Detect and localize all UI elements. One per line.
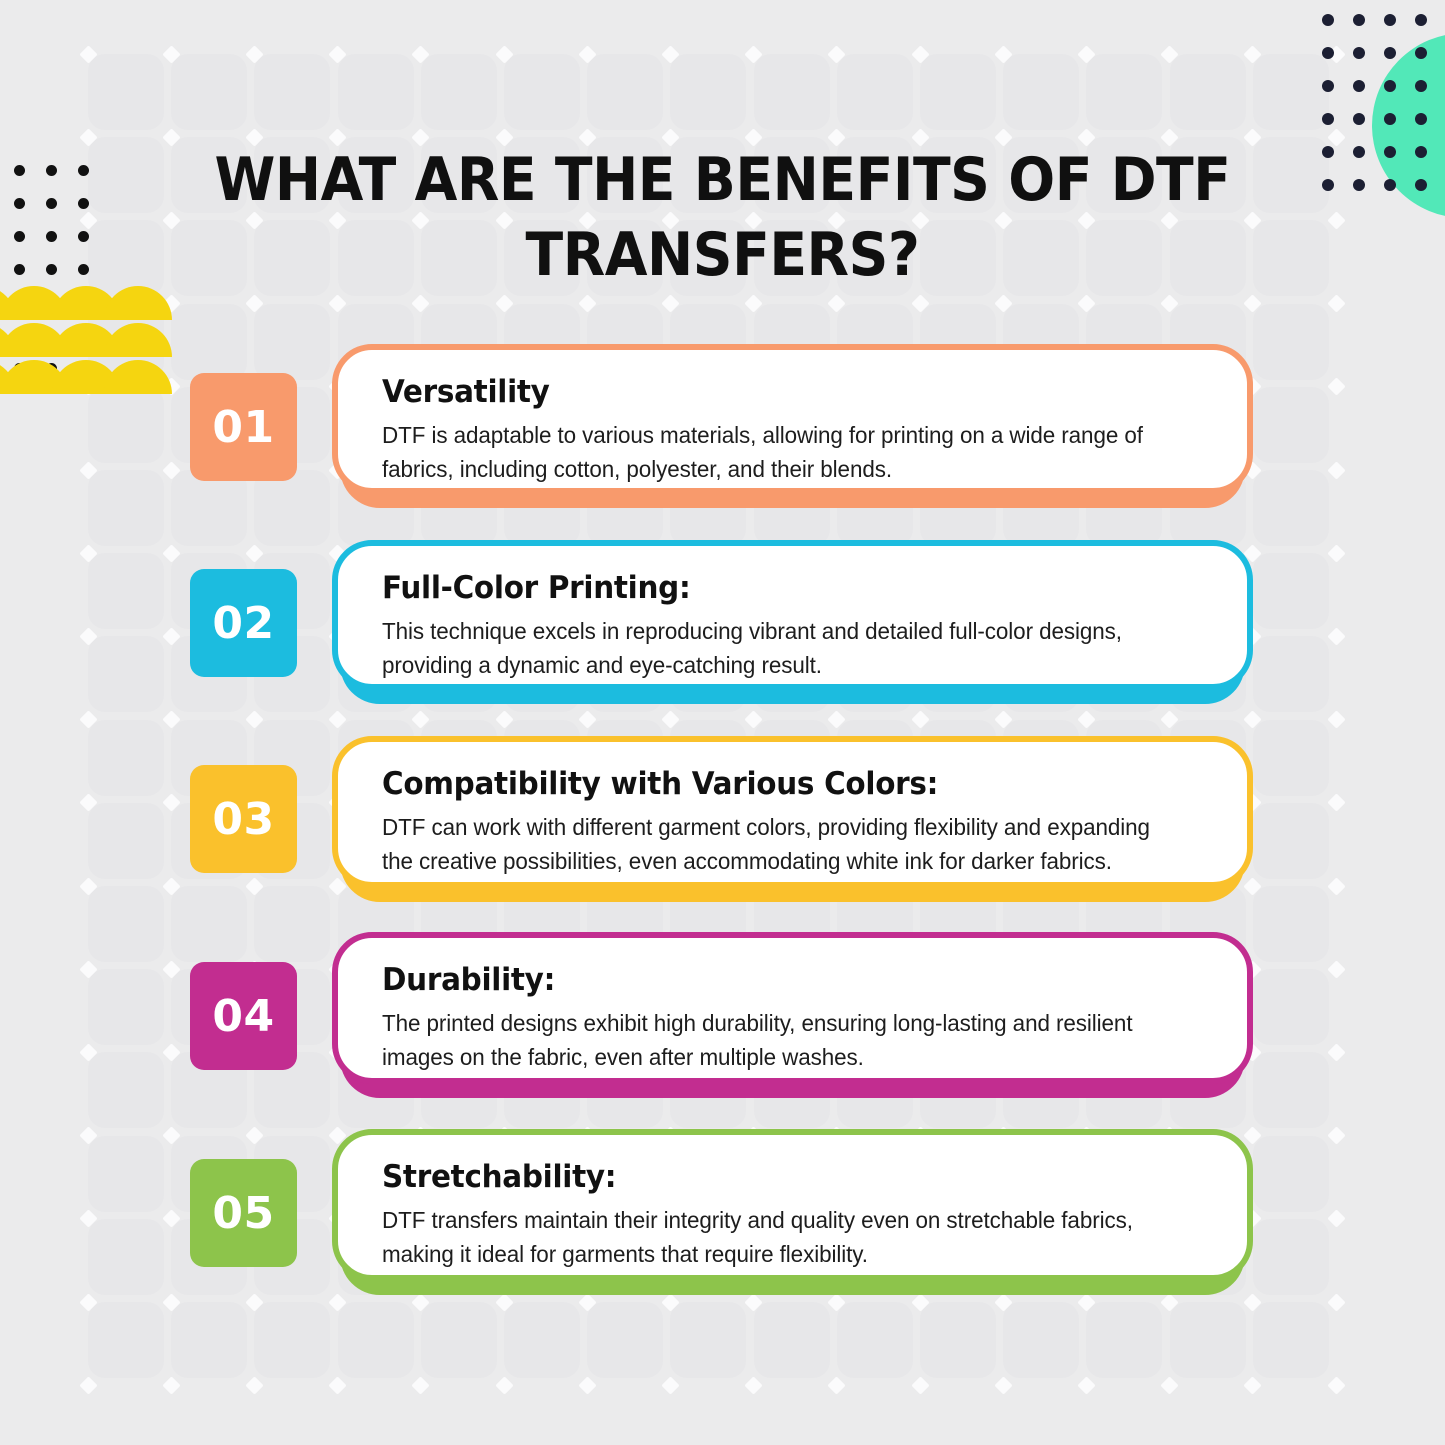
benefit-card[interactable]: Stretchability:DTF transfers maintain th… (332, 1129, 1253, 1281)
benefit-number-badge: 03 (190, 765, 297, 873)
grid-tile (88, 470, 164, 546)
grid-tile (254, 1302, 330, 1378)
decorative-dot (1322, 146, 1334, 158)
benefit-description: DTF is adaptable to various materials, a… (382, 418, 1166, 486)
grid-tile (338, 1302, 414, 1378)
grid-tile (1253, 304, 1329, 380)
grid-tile (670, 54, 746, 130)
decorative-dot (1353, 179, 1365, 191)
grid-tile (504, 54, 580, 130)
grid-node (328, 1376, 346, 1394)
grid-node (1327, 378, 1345, 396)
benefit-heading: Durability: (382, 960, 1162, 1000)
grid-node (661, 1376, 679, 1394)
grid-node (1327, 1043, 1345, 1061)
grid-tile (254, 886, 330, 962)
teal-circle-decoration (1372, 33, 1445, 218)
decorative-dot (1384, 80, 1396, 92)
grid-node (1327, 960, 1345, 978)
grid-tile (88, 1052, 164, 1128)
decorative-dot (78, 264, 89, 275)
grid-node (1327, 461, 1345, 479)
benefit-number-badge: 02 (190, 569, 297, 677)
grid-tile (1253, 1136, 1329, 1212)
grid-tile (504, 1302, 580, 1378)
grid-tile (88, 720, 164, 796)
grid-tile (88, 387, 164, 463)
grid-tile (670, 1302, 746, 1378)
grid-tile (88, 54, 164, 130)
grid-tile (920, 54, 996, 130)
grid-tile (88, 220, 164, 296)
grid-tile (88, 1136, 164, 1212)
grid-node (994, 1376, 1012, 1394)
decorative-dot (1322, 14, 1334, 26)
benefit-number-badge: 01 (190, 373, 297, 481)
grid-tile (254, 470, 330, 546)
benefit-card[interactable]: Durability:The printed designs exhibit h… (332, 932, 1253, 1084)
grid-tile (1253, 1302, 1329, 1378)
decorative-dot (46, 165, 57, 176)
grid-tile (254, 304, 330, 380)
grid-tile (1253, 1219, 1329, 1295)
grid-tile (587, 1302, 663, 1378)
decorative-dot (78, 231, 89, 242)
grid-tile (1170, 54, 1246, 130)
decorative-dot (1322, 179, 1334, 191)
grid-tile (920, 1302, 996, 1378)
decorative-dot (46, 264, 57, 275)
page-title: WHAT ARE THE BENEFITS OF DTF TRANSFERS? (196, 143, 1249, 293)
decorative-dot (1384, 113, 1396, 125)
benefit-heading: Stretchability: (382, 1157, 1162, 1197)
grid-node (1327, 1293, 1345, 1311)
decorative-dot (78, 165, 89, 176)
grid-tile (1253, 553, 1329, 629)
grid-tile (1253, 54, 1329, 130)
decorative-dot (1415, 146, 1427, 158)
grid-tile (88, 636, 164, 712)
grid-node (1327, 627, 1345, 645)
decorative-dot (1384, 179, 1396, 191)
grid-tile (1253, 803, 1329, 879)
grid-tile (421, 1302, 497, 1378)
grid-tile (88, 803, 164, 879)
grid-node (79, 1376, 97, 1394)
benefit-card[interactable]: VersatilityDTF is adaptable to various m… (332, 344, 1253, 494)
decorative-dot (1353, 146, 1365, 158)
grid-tile (1253, 1052, 1329, 1128)
decorative-dot (1322, 47, 1334, 59)
decorative-dot (14, 165, 25, 176)
decorative-dot (14, 264, 25, 275)
decorative-dot (1384, 14, 1396, 26)
grid-node (1327, 294, 1345, 312)
grid-tile (1253, 137, 1329, 213)
decorative-dot (1415, 47, 1427, 59)
grid-node (245, 1376, 263, 1394)
grid-tile (1003, 1302, 1079, 1378)
grid-tile (1253, 387, 1329, 463)
grid-tile (338, 54, 414, 130)
grid-node (1327, 710, 1345, 728)
grid-tile (254, 54, 330, 130)
benefit-heading: Versatility (382, 372, 1162, 412)
grid-node (828, 1376, 846, 1394)
grid-tile (1253, 636, 1329, 712)
grid-tile (587, 54, 663, 130)
grid-tile (837, 1302, 913, 1378)
grid-tile (837, 54, 913, 130)
grid-tile (171, 1302, 247, 1378)
decorative-dot (1322, 80, 1334, 92)
decorative-dot (14, 231, 25, 242)
grid-tile (1253, 969, 1329, 1045)
grid-tile (1003, 54, 1079, 130)
grid-node (1327, 1376, 1345, 1394)
grid-tile (88, 553, 164, 629)
benefit-card[interactable]: Full-Color Printing:This technique excel… (332, 540, 1253, 690)
grid-node (495, 1376, 513, 1394)
decorative-dot (78, 198, 89, 209)
grid-tile (88, 1302, 164, 1378)
decorative-dot (46, 231, 57, 242)
grid-node (162, 1376, 180, 1394)
benefit-number-badge: 05 (190, 1159, 297, 1267)
grid-node (578, 1376, 596, 1394)
decorative-dot (1353, 80, 1365, 92)
grid-tile (1253, 220, 1329, 296)
decorative-dot (1415, 113, 1427, 125)
grid-node (412, 1376, 430, 1394)
grid-tile (88, 137, 164, 213)
benefit-number-badge: 04 (190, 962, 297, 1070)
decorative-dot (1322, 113, 1334, 125)
decorative-dot (1353, 113, 1365, 125)
decorative-dot (1415, 179, 1427, 191)
decorative-dot (1353, 14, 1365, 26)
decorative-dot (1415, 14, 1427, 26)
grid-tile (1253, 470, 1329, 546)
grid-node (1244, 1376, 1262, 1394)
benefit-heading: Full-Color Printing: (382, 568, 1162, 608)
grid-tile (171, 54, 247, 130)
grid-node (744, 1376, 762, 1394)
grid-tile (421, 54, 497, 130)
grid-node (1327, 211, 1345, 229)
grid-node (1327, 877, 1345, 895)
grid-node (1077, 1376, 1095, 1394)
grid-node (911, 1376, 929, 1394)
grid-tile (1170, 1302, 1246, 1378)
yellow-semicircle-pattern (0, 286, 153, 391)
grid-tile (171, 886, 247, 962)
benefit-description: DTF can work with different garment colo… (382, 810, 1166, 878)
infographic-poster: WHAT ARE THE BENEFITS OF DTF TRANSFERS? … (0, 0, 1445, 1445)
grid-node (1160, 1376, 1178, 1394)
grid-tile (1086, 1302, 1162, 1378)
decorative-dot (1415, 80, 1427, 92)
grid-tile (1253, 886, 1329, 962)
grid-node (1327, 128, 1345, 146)
grid-tile (1253, 720, 1329, 796)
benefit-description: This technique excels in reproducing vib… (382, 614, 1166, 682)
decorative-dot (1384, 47, 1396, 59)
grid-node (1327, 544, 1345, 562)
decorative-dot (46, 198, 57, 209)
grid-tile (171, 470, 247, 546)
grid-node (1327, 1126, 1345, 1144)
grid-node (1327, 794, 1345, 812)
grid-tile (754, 1302, 830, 1378)
benefit-description: The printed designs exhibit high durabil… (382, 1006, 1166, 1074)
benefit-heading: Compatibility with Various Colors: (382, 764, 1162, 804)
grid-node (1327, 1210, 1345, 1228)
grid-tile (1086, 54, 1162, 130)
decorative-dot (1384, 146, 1396, 158)
grid-tile (88, 969, 164, 1045)
grid-tile (754, 54, 830, 130)
decorative-dot (1353, 47, 1365, 59)
benefit-description: DTF transfers maintain their integrity a… (382, 1203, 1166, 1271)
decorative-dot (14, 198, 25, 209)
benefit-card[interactable]: Compatibility with Various Colors:DTF ca… (332, 736, 1253, 888)
grid-tile (88, 886, 164, 962)
grid-tile (171, 304, 247, 380)
grid-tile (88, 1219, 164, 1295)
